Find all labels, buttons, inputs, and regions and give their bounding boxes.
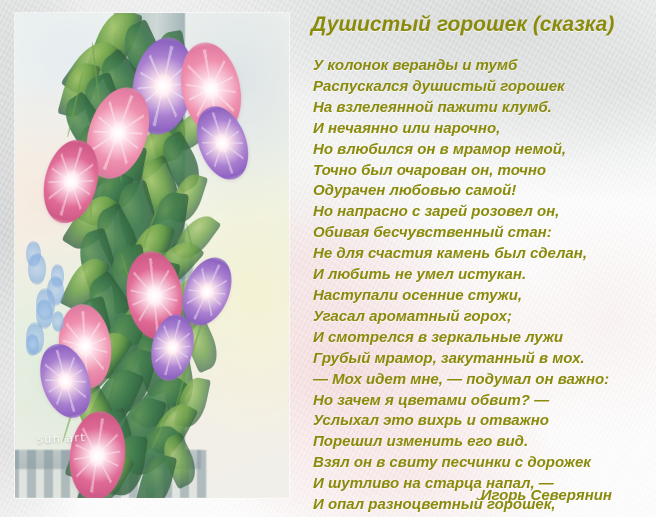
poem-line: Наступали осенние стужи, [313,286,653,307]
poem-line: Но влюбился он в мрамор немой, [313,140,653,161]
poem-line: Угасал ароматный горох; [313,307,653,328]
poem-line: Грубый мрамор, закутанный в мох. [313,349,653,370]
poem-line: Но зачем я цветами обвит? — [313,391,653,412]
artwork-frame: sun art [15,13,289,498]
poem-line: Точно был очарован он, точно [313,161,653,182]
poem-line: — Мох идет мне, — подумал он важно: [313,370,653,391]
artist-signature: sun art [37,431,87,446]
poem-body: У колонок веранды и тумбРаспускался души… [313,56,653,517]
poem-line: Одурачен любовью самой! [313,181,653,202]
poem-author: Игорь Северянин [481,487,612,504]
poem-line: Порешил изменить его вид. [313,432,653,453]
poem-text-column: Душистый горошек (сказка) У колонок вера… [300,0,656,517]
watercolor-painting: sun art [15,13,289,498]
poem-line: Услыхал это вихрь и отважно [313,411,653,432]
poem-title: Душистый горошек (сказка) [311,13,614,37]
larkspur-floret [26,334,38,356]
poem-line: И любить не умел истукан. [313,265,653,286]
poem-line: Распускался душистый горошек [313,77,653,98]
poem-line: Не для счастия камень был сделан, [313,244,653,265]
poem-line: Обивая бесчувственный стан: [313,223,653,244]
poem-line: У колонок веранды и тумб [313,56,653,77]
larkspur-floret [52,311,64,332]
poem-card: sun art Душистый горошек (сказка) У коло… [0,0,656,517]
poem-line: И смотрелся в зеркальные лужи [313,328,653,349]
poem-line: Взял он в свиту песчинки с дорожек [313,453,653,474]
poem-line: На взлелеянной пажити клумб. [313,98,653,119]
poem-line: Но напрасно с зарей розовел он, [313,202,653,223]
poem-line: И нечаянно или нарочно, [313,119,653,140]
